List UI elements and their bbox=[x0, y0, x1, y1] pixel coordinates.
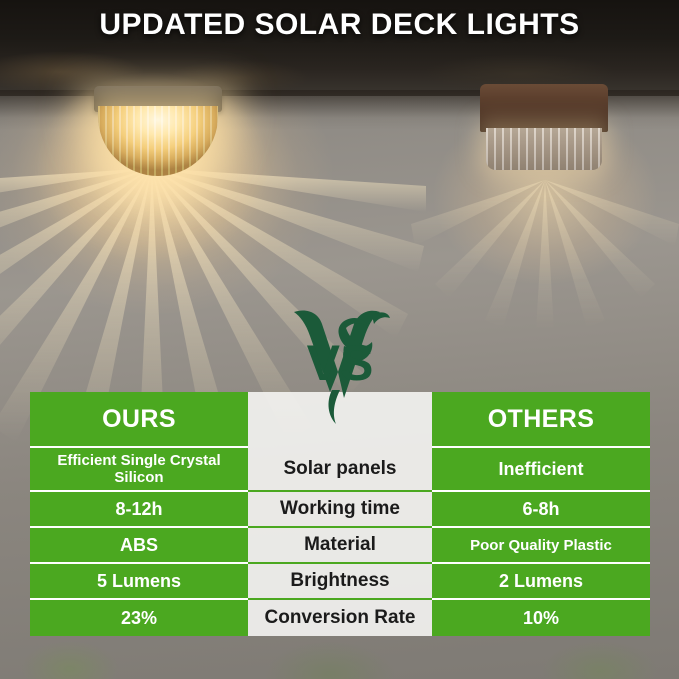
page-title: UPDATED SOLAR DECK LIGHTS bbox=[0, 8, 679, 42]
row-3-ours: 5 Lumens bbox=[30, 564, 248, 600]
row-4-feature: Conversion Rate bbox=[248, 600, 432, 636]
table-header-others: OTHERS bbox=[432, 392, 650, 448]
comparison-table: OURS OTHERS Efficient Single Crystal Sil… bbox=[30, 392, 650, 667]
row-0-ours: Efficient Single Crystal Silicon bbox=[30, 448, 248, 492]
row-3-others: 2 Lumens bbox=[432, 564, 650, 600]
product-comparison-image: UPDATED SOLAR DECK LIGHTS VS OURS OTHERS… bbox=[0, 0, 679, 679]
lamp-unlit-ribs bbox=[486, 128, 602, 170]
solar-deck-light-lit bbox=[88, 86, 228, 186]
lamp-lens-ribs bbox=[98, 106, 218, 176]
row-4-ours: 23% bbox=[30, 600, 248, 636]
row-2-others: Poor Quality Plastic bbox=[432, 528, 650, 564]
row-2-ours: ABS bbox=[30, 528, 248, 564]
row-2-feature: Material bbox=[248, 528, 432, 564]
lamp-brown-cap bbox=[480, 84, 608, 132]
solar-deck-light-unlit bbox=[480, 84, 608, 176]
row-1-ours: 8-12h bbox=[30, 492, 248, 528]
vs-badge: VS bbox=[288, 306, 392, 426]
row-0-feature: Solar panels bbox=[248, 448, 432, 492]
row-3-feature: Brightness bbox=[248, 564, 432, 600]
row-0-others: Inefficient bbox=[432, 448, 650, 492]
row-4-others: 10% bbox=[432, 600, 650, 636]
row-1-feature: Working time bbox=[248, 492, 432, 528]
vs-text: VS bbox=[307, 335, 374, 391]
row-1-others: 6-8h bbox=[432, 492, 650, 528]
table-header-ours: OURS bbox=[30, 392, 248, 448]
